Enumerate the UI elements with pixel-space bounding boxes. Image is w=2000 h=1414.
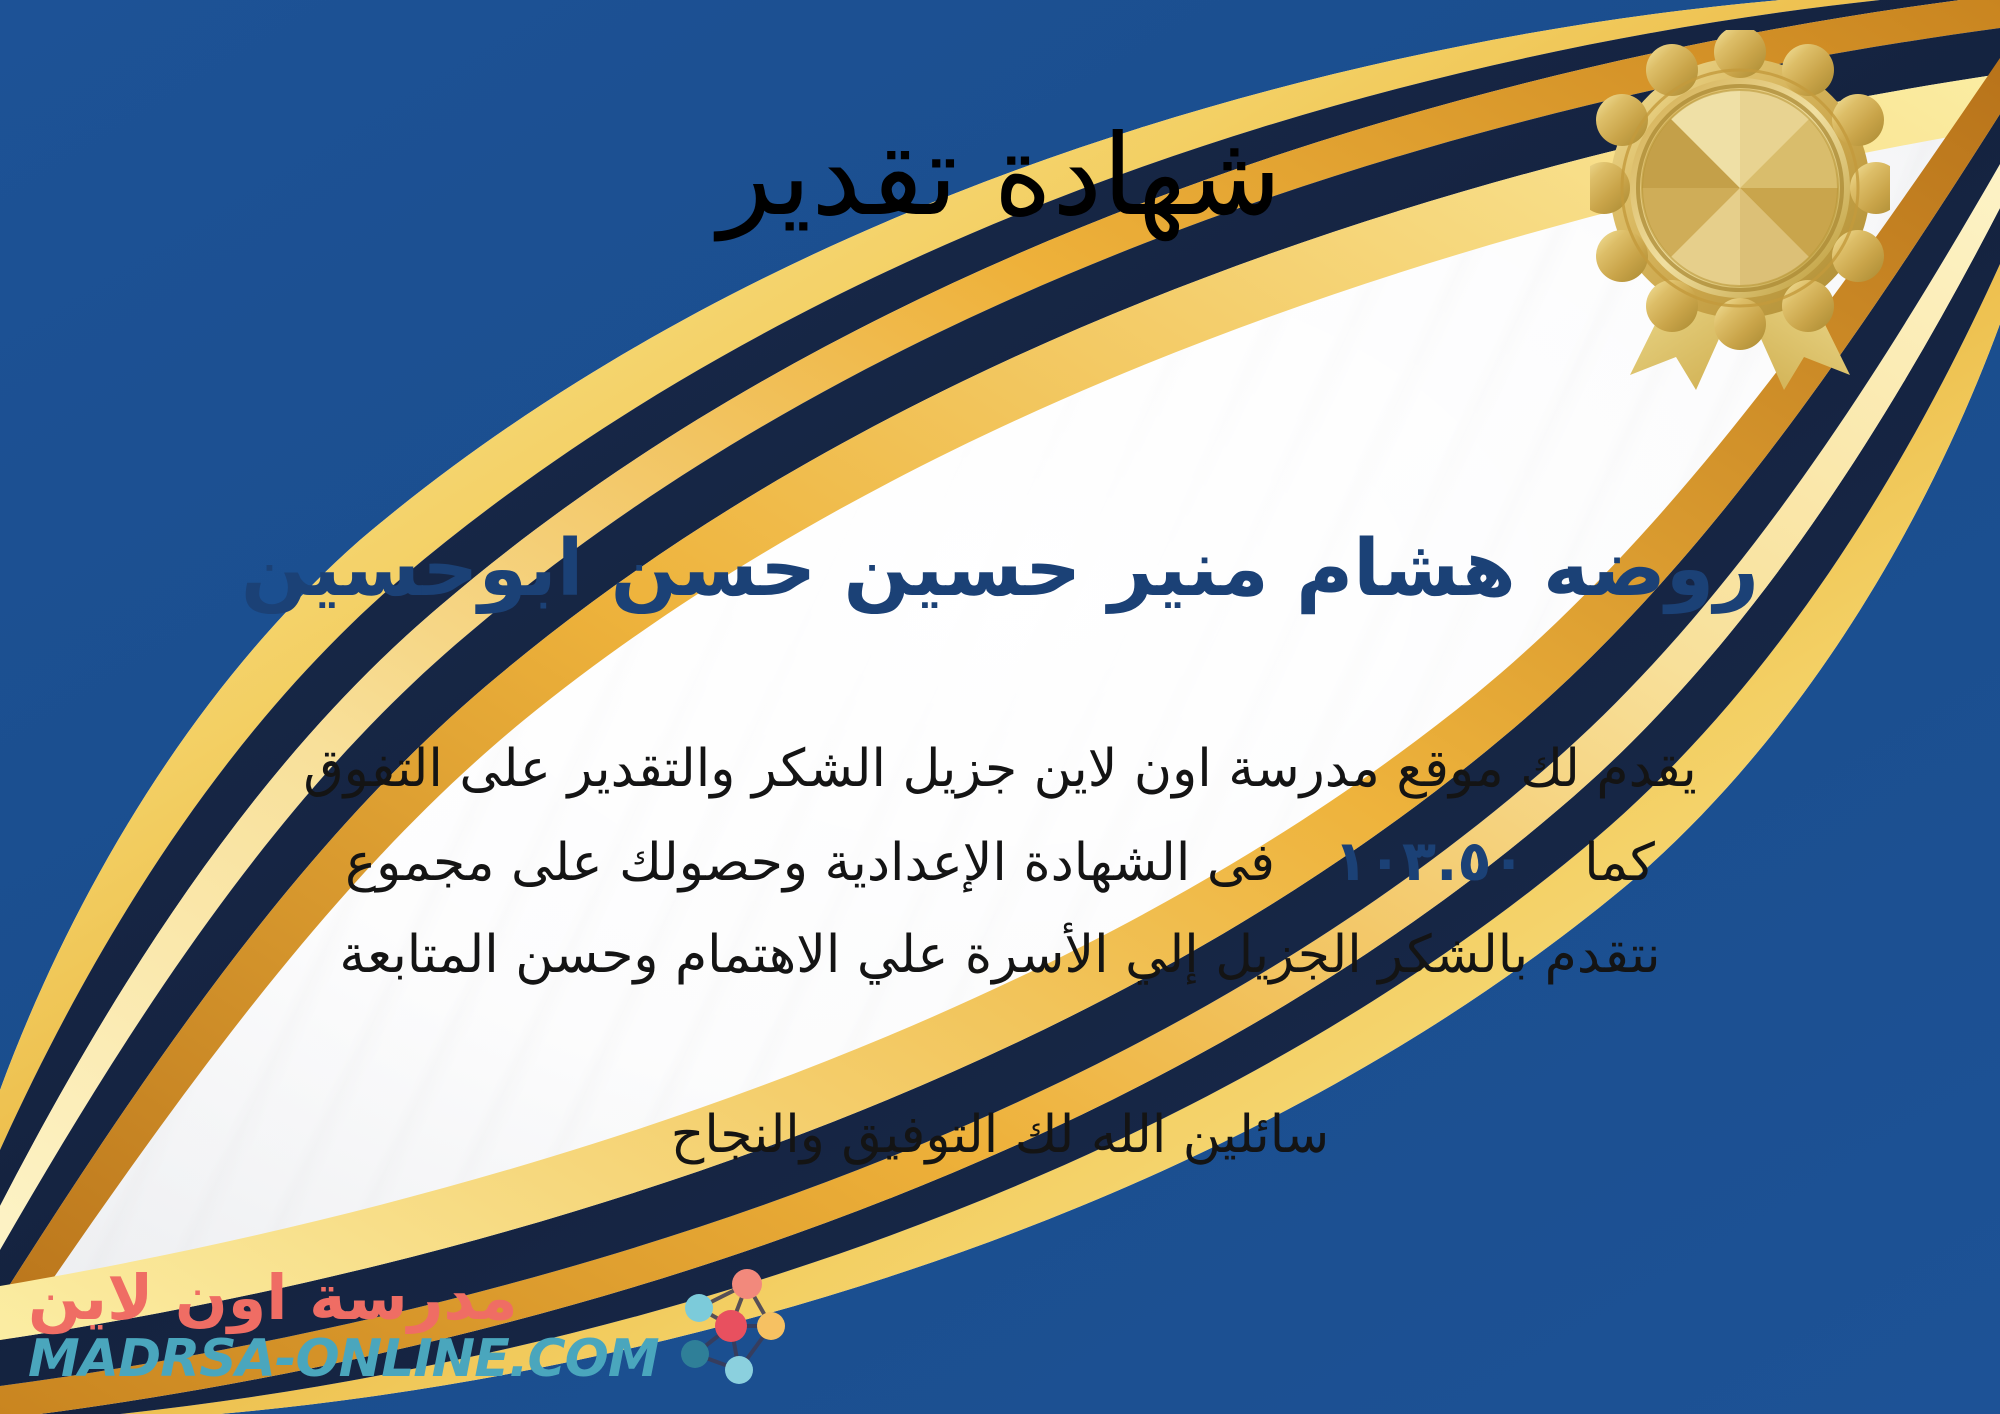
certificate-body: يقدم لك موقع مدرسة اون لاين جزيل الشكر و… xyxy=(120,725,1880,1000)
brand-website[interactable]: MADRSA-ONLINE.COM xyxy=(28,1333,659,1385)
network-nodes-icon xyxy=(673,1260,791,1392)
closing-line: سائلين الله لك التوفيق والنجاح xyxy=(0,1105,2000,1165)
certificate-page: شهادة تقدير روضه هشام منير حسين حسن ابوح… xyxy=(0,0,2000,1414)
brand-text-block: مدرسة اون لاين MADRSA-ONLINE.COM xyxy=(28,1267,659,1385)
body-line-2-prefix: فى الشهادة الإعدادية وحصولك على مجموع xyxy=(345,833,1275,893)
body-line-3: نتقدم بالشكر الجزيل إلي الأسرة علي الاهت… xyxy=(120,911,1880,1000)
recipient-name: روضه هشام منير حسين حسن ابوحسين xyxy=(0,525,2000,615)
page-title: شهادة تقدير xyxy=(0,118,2000,236)
body-line-2: كما ١٠٣.٥٠ فى الشهادة الإعدادية وحصولك ع… xyxy=(120,814,1880,910)
brand-arabic-name: مدرسة اون لاين xyxy=(28,1267,518,1329)
body-line-2-suffix: كما xyxy=(1584,833,1655,893)
grade-total-value: ١٠٣.٥٠ xyxy=(1292,814,1568,910)
body-line-1: يقدم لك موقع مدرسة اون لاين جزيل الشكر و… xyxy=(120,725,1880,814)
brand-logo[interactable]: مدرسة اون لاين MADRSA-ONLINE.COM xyxy=(28,1260,791,1392)
certificate-content: شهادة تقدير روضه هشام منير حسين حسن ابوح… xyxy=(0,0,2000,1414)
